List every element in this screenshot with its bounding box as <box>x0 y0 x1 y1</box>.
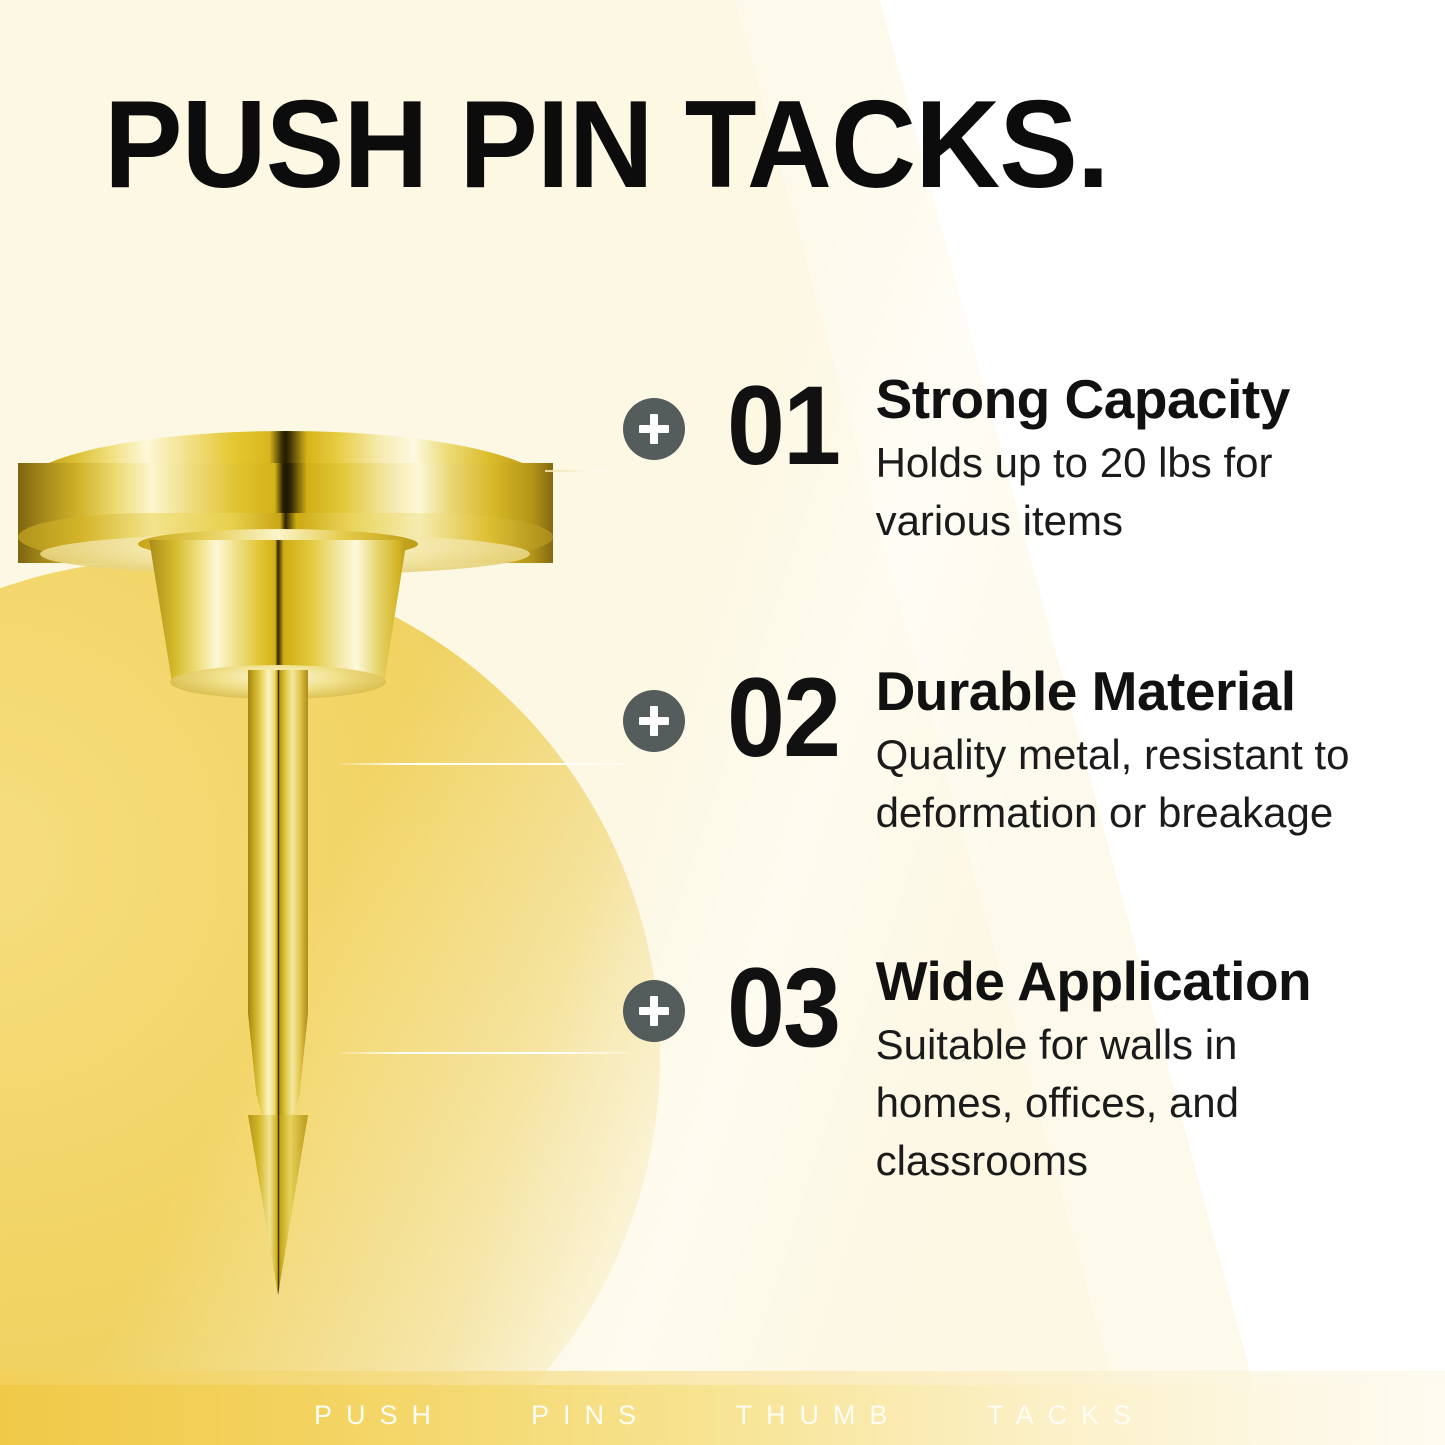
connector-line-3 <box>340 1052 630 1054</box>
feature-description-1: Holds up to 20 lbs for various items <box>876 434 1376 550</box>
plus-icon <box>623 980 685 1042</box>
feature-item-1: 01 Strong Capacity Holds up to 20 lbs fo… <box>623 368 1376 550</box>
footer-banner-text: PUSH PINS THUMB TACKS <box>300 1400 1145 1431</box>
infographic-canvas: PUSH PIN TACKS. 01 Strong Capacity Holds… <box>0 0 1445 1445</box>
pin-needle-shaft <box>248 670 308 1175</box>
feature-description-3: Suitable for walls in homes, offices, an… <box>876 1016 1376 1190</box>
feature-title-1: Strong Capacity <box>876 370 1376 428</box>
feature-description-2: Quality metal, resistant to deformation … <box>876 726 1376 842</box>
feature-number-3: 03 <box>727 952 839 1064</box>
feature-text-2: Durable Material Quality metal, resistan… <box>876 660 1376 842</box>
connector-line-2 <box>340 763 630 765</box>
feature-number-1: 01 <box>727 370 839 482</box>
banner-top-strip <box>0 1371 1445 1385</box>
feature-text-1: Strong Capacity Holds up to 20 lbs for v… <box>876 368 1376 550</box>
feature-item-2: 02 Durable Material Quality metal, resis… <box>623 660 1376 842</box>
plus-icon <box>623 690 685 752</box>
feature-text-3: Wide Application Suitable for walls in h… <box>876 950 1376 1190</box>
product-illustration <box>0 415 580 1205</box>
connector-line-1 <box>545 470 625 472</box>
pin-collar <box>138 540 418 680</box>
page-title: PUSH PIN TACKS. <box>104 83 1109 207</box>
feature-title-2: Durable Material <box>876 662 1376 720</box>
feature-number-2: 02 <box>727 662 839 774</box>
plus-icon <box>623 398 685 460</box>
footer-banner: PUSH PINS THUMB TACKS <box>0 1385 1445 1445</box>
feature-title-3: Wide Application <box>876 952 1376 1010</box>
feature-item-3: 03 Wide Application Suitable for walls i… <box>623 950 1376 1190</box>
